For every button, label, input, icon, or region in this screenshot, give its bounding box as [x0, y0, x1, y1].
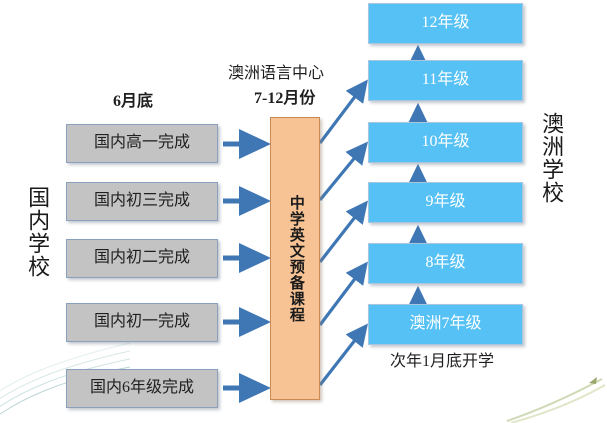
- grade-box-9[interactable]: 9年级: [368, 182, 523, 223]
- label-australia-school: 澳洲学校: [540, 112, 563, 204]
- caption-next-year-start: 次年1月底开学: [390, 347, 494, 371]
- grade-box-10[interactable]: 10年级: [368, 122, 523, 163]
- grade-box-8[interactable]: 8年级: [368, 243, 523, 284]
- domestic-box-junior2[interactable]: 国内初二完成: [66, 239, 218, 278]
- grade-box-11[interactable]: 11年级: [368, 60, 523, 101]
- grade-box-12[interactable]: 12年级: [368, 3, 523, 44]
- caption-australia-language-centre: 澳洲语言中心: [228, 59, 324, 83]
- domestic-box-junior1[interactable]: 国内初一完成: [66, 303, 218, 342]
- prep-course-label: 中学英文预备课程: [286, 195, 304, 323]
- label-domestic-school: 国内学校: [26, 186, 49, 278]
- domestic-box-junior3[interactable]: 国内初三完成: [66, 182, 218, 221]
- caption-months-7-12: 7-12月份: [254, 84, 315, 108]
- decorative-swoosh-right: [497, 373, 607, 423]
- domestic-box-grade6[interactable]: 国内6年级完成: [66, 369, 218, 408]
- prep-course-box[interactable]: 中学英文预备课程: [270, 117, 320, 400]
- grade-box-australia-7[interactable]: 澳洲7年级: [368, 304, 523, 345]
- caption-june-end: 6月底: [113, 87, 153, 111]
- domestic-box-senior1[interactable]: 国内高一完成: [66, 124, 218, 163]
- diagram-canvas: 6月底 澳洲语言中心 7-12月份 次年1月底开学 国内学校 澳洲学校 国内高一…: [0, 0, 607, 423]
